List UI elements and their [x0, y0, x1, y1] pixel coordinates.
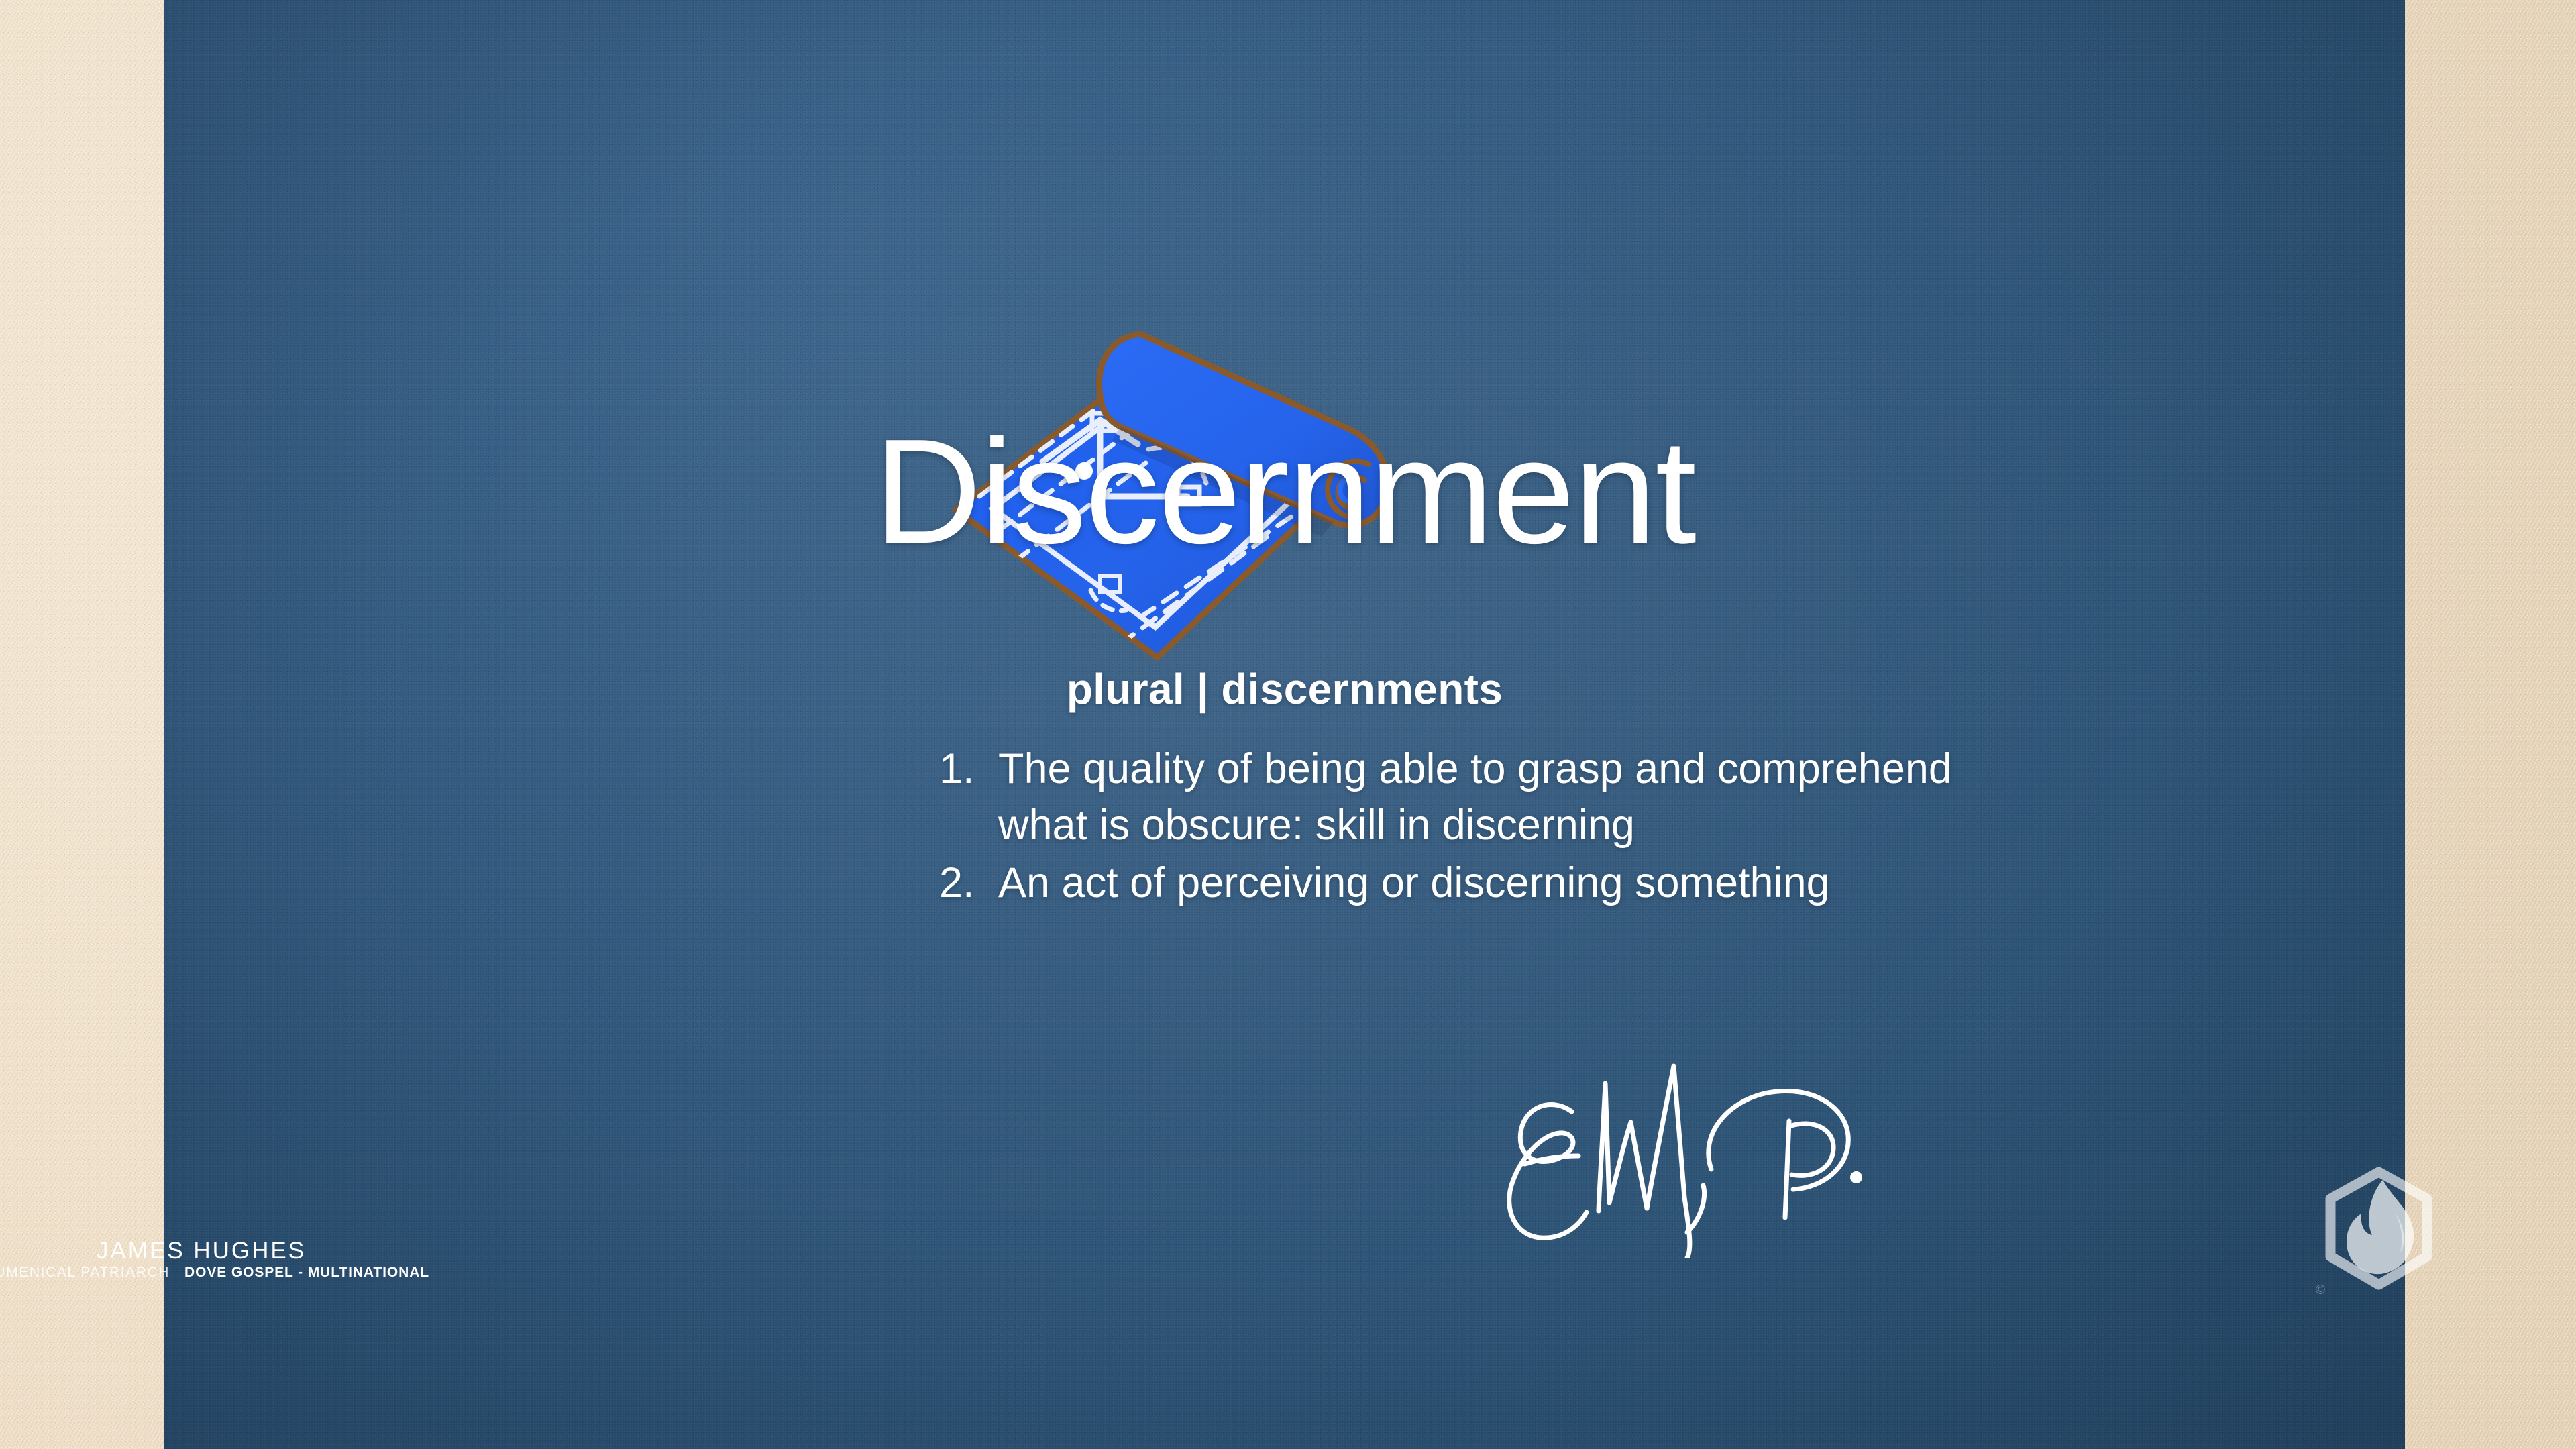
list-item: 2. An act of perceiving or discerning so… — [939, 855, 1986, 912]
definition-text: The quality of being able to grasp and c… — [998, 741, 1986, 854]
plural-label: plural — [1067, 665, 1185, 713]
copyright-mark: © — [2316, 1283, 2325, 1298]
plural-form: discernments — [1221, 665, 1503, 713]
list-item: 1. The quality of being able to grasp an… — [939, 741, 1986, 854]
plural-separator: | — [1197, 665, 1209, 713]
signature-name: JAMES HUGHES — [0, 1238, 402, 1265]
signature-subline: ECUMENICAL PATRIARCH DOVE GOSPEL - MULTI… — [0, 1265, 402, 1281]
definition-marker: 2. — [939, 855, 998, 912]
plural-form-line: plural | discernments — [164, 664, 2405, 714]
definition-marker: 1. — [939, 741, 998, 798]
panel-vignette — [164, 0, 2405, 1449]
panel-grain-texture — [164, 0, 2405, 1449]
signature-organization: DOVE GOSPEL - MULTINATIONAL — [184, 1265, 429, 1281]
signature-role: ECUMENICAL PATRIARCH — [0, 1265, 170, 1281]
definition-list: 1. The quality of being able to grasp an… — [939, 741, 1986, 912]
page-title: Discernment — [164, 417, 2405, 566]
definition-text: An act of perceiving or discerning somet… — [998, 855, 1986, 912]
slide-panel: Discernment plural | discernments 1. The… — [164, 0, 2405, 1449]
